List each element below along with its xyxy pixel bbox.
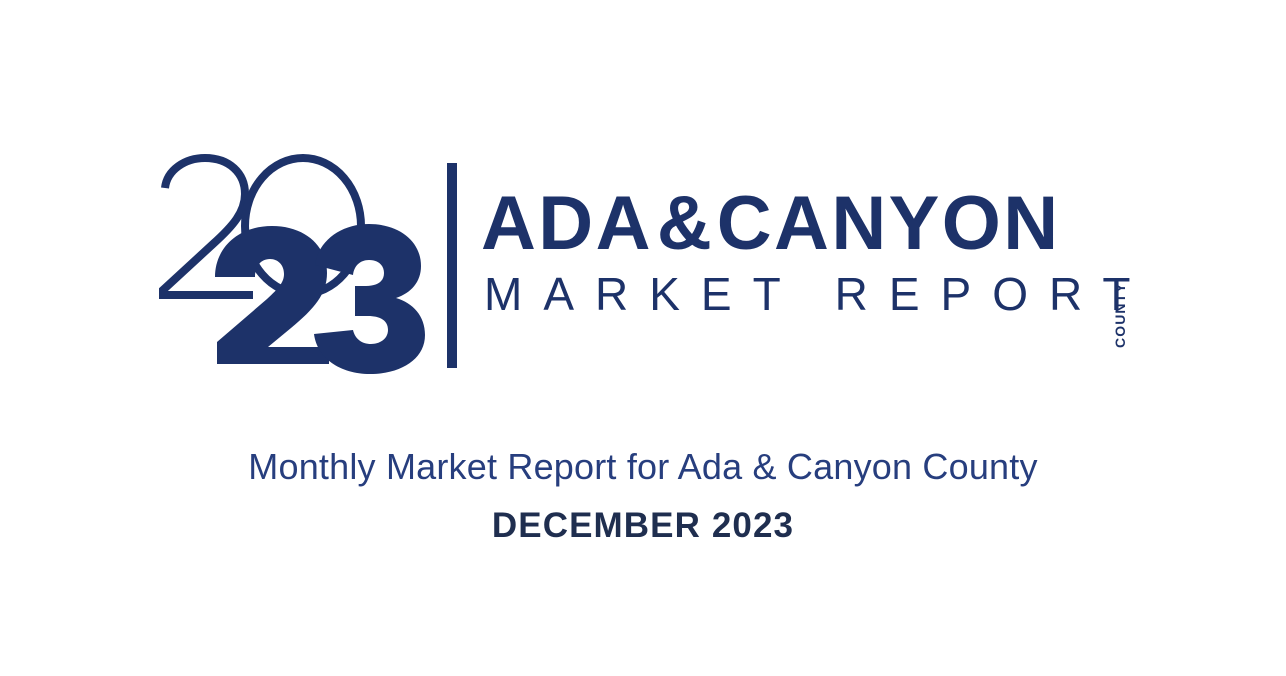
wordmark-primary-line: ADA&CANYON — [481, 186, 1061, 262]
brand-wordmark: ADA&CANYON MARKET REPORT — [481, 152, 1181, 374]
report-period-line: DECEMBER 2023 — [0, 486, 1286, 543]
report-cover-page: ADA&CANYON MARKET REPORT COUNTY Monthly … — [0, 0, 1286, 676]
monogram-solid-three-glyph — [314, 224, 425, 374]
wordmark-ampersand: & — [653, 181, 717, 266]
report-scope-line: Monthly Market Report for Ada & Canyon C… — [0, 448, 1286, 486]
logo-divider-rule — [447, 163, 457, 368]
wordmark-county-superscript: COUNTY — [1113, 282, 1127, 348]
report-subtitle-block: Monthly Market Report for Ada & Canyon C… — [0, 448, 1286, 543]
year-2023-monogram-logo — [155, 152, 430, 374]
wordmark-ada: ADA — [481, 181, 653, 266]
wordmark-canyon: CANYON — [717, 181, 1061, 266]
wordmark-secondary-line: MARKET REPORT — [484, 271, 1151, 317]
brand-logo-lockup: ADA&CANYON MARKET REPORT COUNTY — [0, 152, 1286, 378]
